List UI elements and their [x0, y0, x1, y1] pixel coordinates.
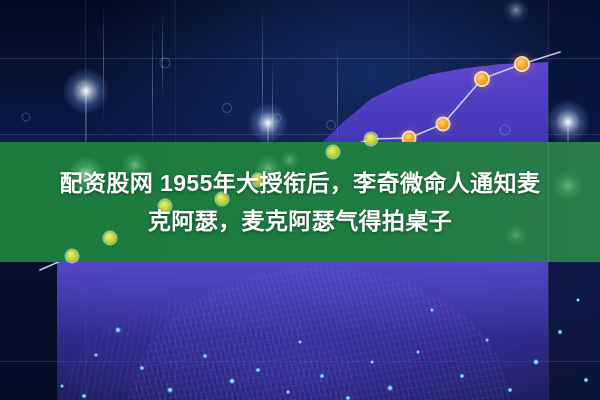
headline-text: 配资股网 1955年大授衔后，李奇微命人通知麦 克阿瑟，麦克阿瑟气得拍桌子 [0, 142, 600, 262]
data-marker [476, 73, 488, 85]
banner-image: 配资股网 1955年大授衔后，李奇微命人通知麦 克阿瑟，麦克阿瑟气得拍桌子 [0, 0, 600, 400]
headline-line-2: 克阿瑟，麦克阿瑟气得拍桌子 [148, 202, 452, 240]
data-marker [438, 119, 449, 130]
data-marker [516, 58, 528, 70]
headline-line-1: 配资股网 1955年大授衔后，李奇微命人通知麦 [60, 164, 541, 202]
